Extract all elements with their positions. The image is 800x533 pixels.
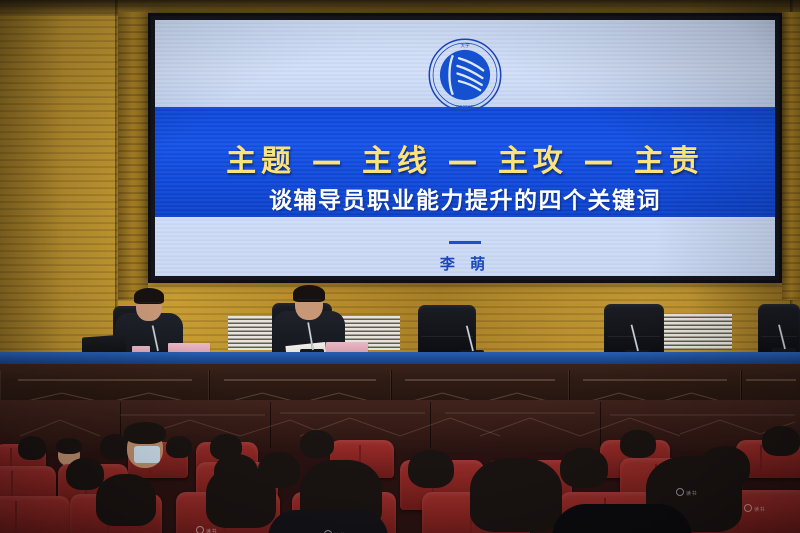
audience-area: 读书 读书 读书 读书 [0,400,800,533]
slide-subtitle: 谈辅导员职业能力提升的四个关键词 [155,181,775,215]
audience-head [620,430,656,458]
conference-hall-photo: 大学 UNIVERSITY 主题 — 主线 — 主攻 — 主责 谈辅导员职业能力… [0,0,800,533]
audience-head [470,458,562,532]
audience-head [96,474,156,526]
svg-text:UNIVERSITY: UNIVERSITY [456,105,474,109]
audience-head [560,448,608,488]
projection-screen: 大学 UNIVERSITY 主题 — 主线 — 主攻 — 主责 谈辅导员职业能力… [148,13,782,283]
audience-shoulders [552,504,692,533]
seat-logo: 读书 [744,504,765,513]
wall-side-panel-left [118,12,148,300]
audience-head [166,436,192,458]
face-mask [134,446,160,463]
speaker-center-glasses [297,299,321,304]
audience-head [762,426,800,456]
university-emblem: 大学 UNIVERSITY [427,37,503,113]
audience-head [18,436,46,460]
audience-hair [56,438,82,454]
presentation-slide: 大学 UNIVERSITY 主题 — 主线 — 主攻 — 主责 谈辅导员职业能力… [155,20,775,276]
wall-side-panel-right [782,12,800,300]
slide-divider-rule [449,241,481,244]
seat-logo: 读书 [196,526,217,533]
seat-logo: 读书 [676,488,697,497]
audience-head [66,458,104,490]
audience-head [408,450,454,488]
audience-hair [124,422,166,444]
audience-head [206,466,276,528]
slide-presenter-name: 李 萌 [155,253,775,274]
audience-head [300,430,334,458]
slide-title: 主题 — 主线 — 主攻 — 主责 [155,136,775,180]
list-item [0,496,70,533]
speaker-left-glasses [138,302,160,307]
